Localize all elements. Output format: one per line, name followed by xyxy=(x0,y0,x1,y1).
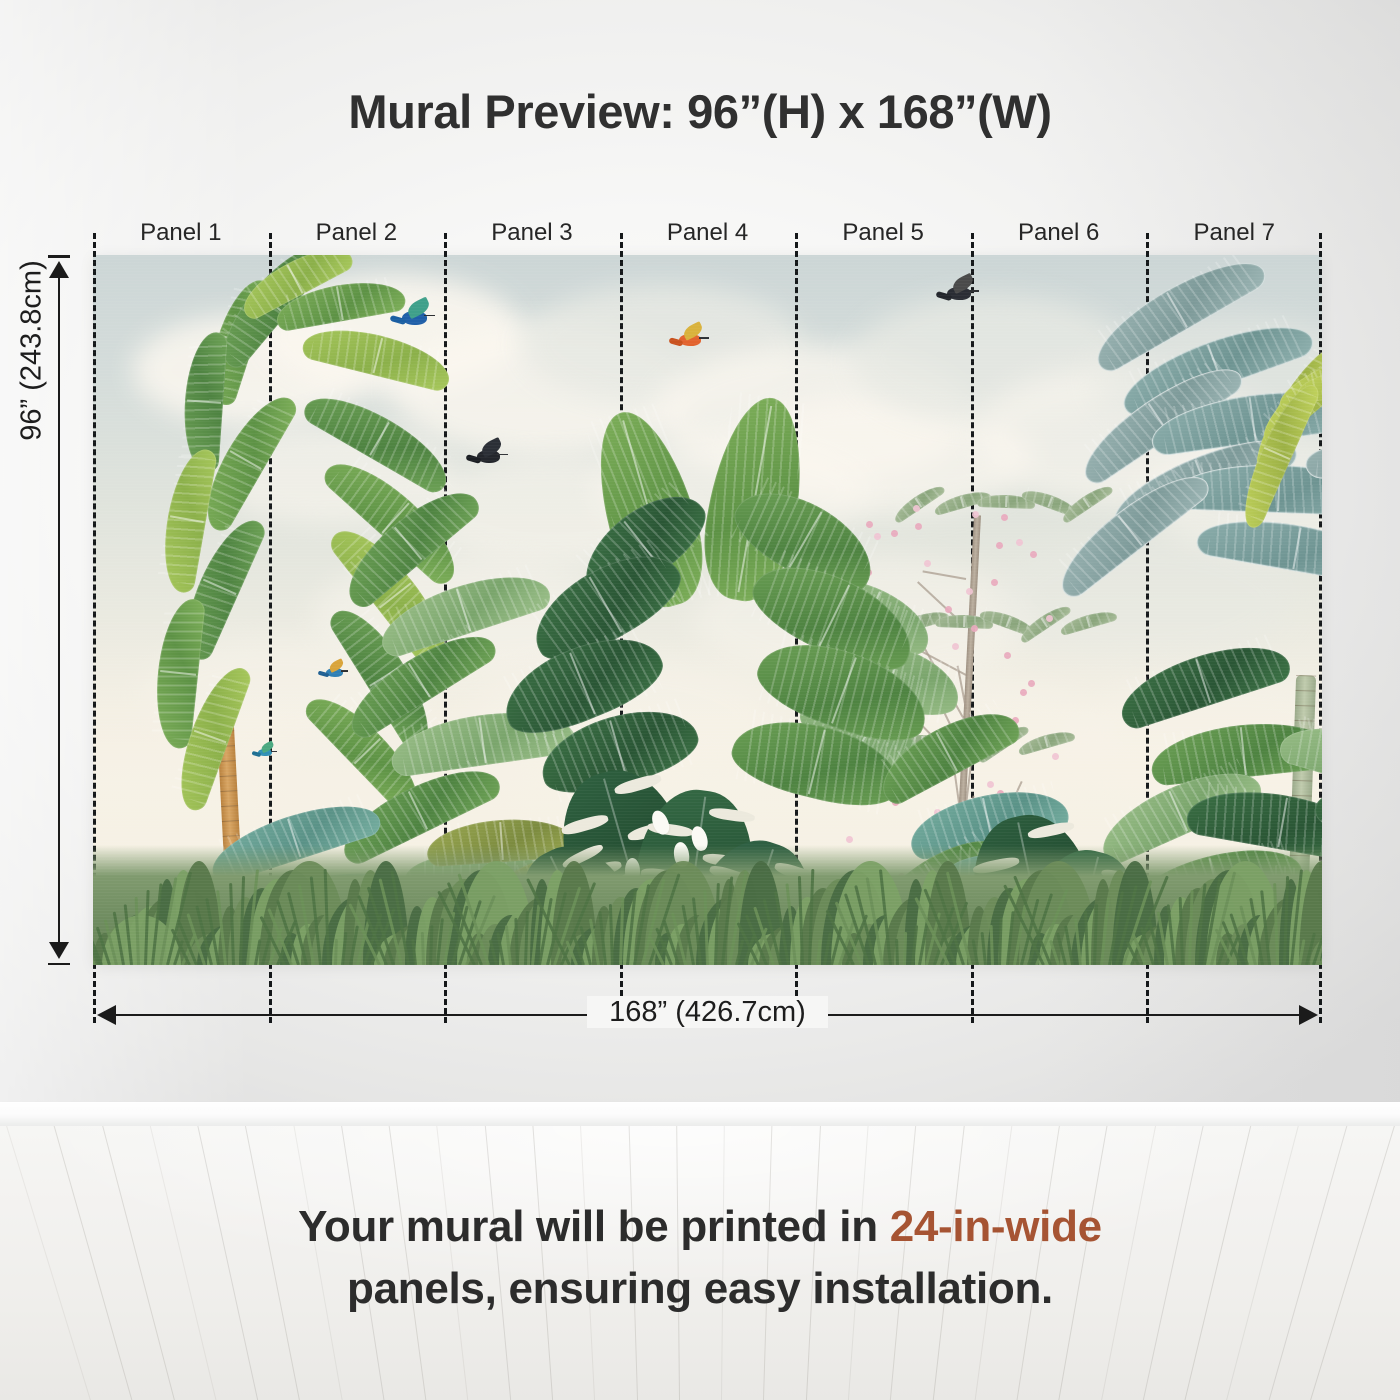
bird-beak xyxy=(969,290,980,292)
pink-blossom xyxy=(913,505,920,512)
height-arrowhead-top xyxy=(49,261,69,278)
trunk-segment xyxy=(1295,690,1315,704)
pink-blossom xyxy=(971,625,978,632)
bird-beak xyxy=(271,751,277,753)
caption-prefix: Your mural will be printed in xyxy=(298,1202,890,1251)
height-axis-line xyxy=(58,265,60,955)
leaf-midrib xyxy=(963,615,965,627)
trunk-segment xyxy=(219,760,237,774)
bird-beak xyxy=(497,454,507,456)
trunk-segment xyxy=(220,790,238,804)
monstera-fenestration xyxy=(613,772,662,797)
bird-beak xyxy=(424,315,435,317)
hummingbird-orange xyxy=(668,325,712,358)
page-title: Mural Preview: 96”(H) x 168”(W) xyxy=(0,84,1400,139)
height-dimension-arrow xyxy=(40,255,100,965)
bird-perched-dark xyxy=(935,277,983,313)
trunk-segment xyxy=(1296,675,1316,689)
trunk-segment xyxy=(1292,780,1312,794)
leaf-midrib xyxy=(1005,495,1007,507)
width-dimension-label: 168” (426.7cm) xyxy=(93,996,1322,1029)
trunk-segment xyxy=(220,775,238,789)
pink-blossom xyxy=(1004,652,1011,659)
hummingbird-blue xyxy=(389,301,439,339)
height-cap-bottom xyxy=(48,963,70,966)
width-dimension-arrow: 168” (426.7cm) xyxy=(93,1000,1322,1032)
caption-line-1: Your mural will be printed in 24-in-wide xyxy=(0,1196,1400,1258)
bee-eater-small xyxy=(317,661,351,687)
width-dimension-text: 168” (426.7cm) xyxy=(587,996,828,1028)
bird-beak xyxy=(699,337,709,339)
caption-highlight: 24-in-wide xyxy=(890,1202,1102,1251)
height-cap-top xyxy=(48,255,70,258)
pink-blossom xyxy=(866,521,873,528)
pink-blossom xyxy=(966,588,973,595)
pink-blossom xyxy=(1016,539,1023,546)
pink-blossom xyxy=(952,643,959,650)
height-arrowhead-bottom xyxy=(49,942,69,959)
bird-beak xyxy=(341,670,349,672)
kingfisher-small xyxy=(251,743,279,764)
trunk-segment xyxy=(221,805,239,819)
monstera-fenestration xyxy=(1027,819,1076,840)
swallow-dark xyxy=(465,441,511,476)
height-dimension-label: 96” (243.8cm) xyxy=(16,141,49,561)
pink-blossom xyxy=(891,530,898,537)
caption: Your mural will be printed in 24-in-wide… xyxy=(0,1196,1400,1320)
baseboard xyxy=(0,1102,1400,1126)
monstera-fenestration xyxy=(560,812,609,837)
grass-blade xyxy=(420,932,424,965)
caption-line-2: panels, ensuring easy installation. xyxy=(0,1258,1400,1320)
pink-blossom xyxy=(996,542,1003,549)
trunk-segment xyxy=(222,820,240,834)
pink-blossom xyxy=(991,579,998,586)
